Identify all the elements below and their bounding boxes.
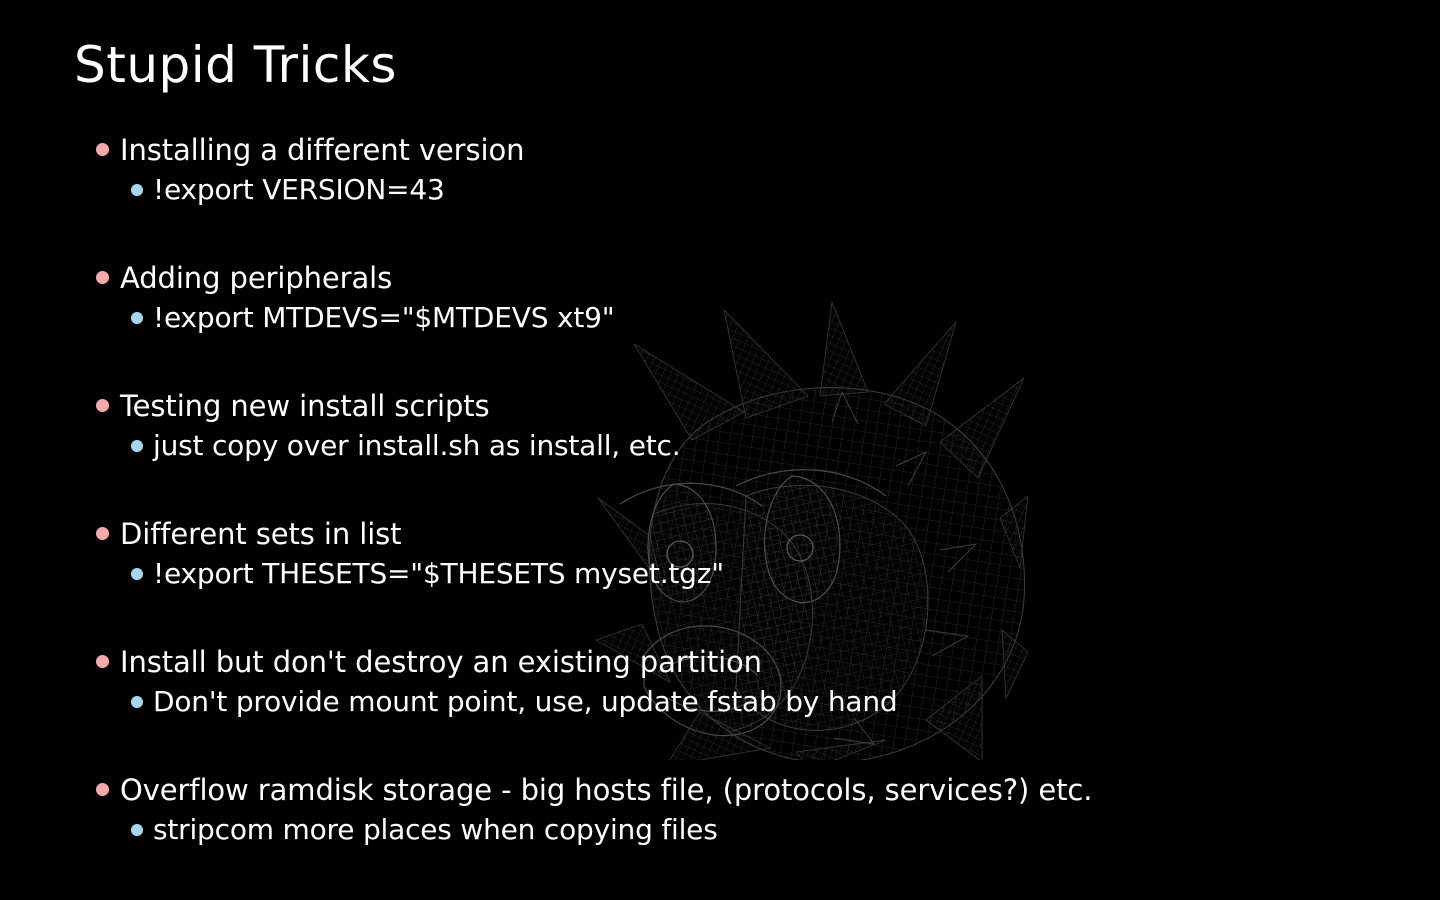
bullet-text: just copy over install.sh as install, et…	[153, 426, 680, 466]
bullet-text: Installing a different version	[120, 130, 524, 170]
bullet-dot-icon	[96, 399, 109, 412]
bullet-item-level1: Different sets in list	[0, 514, 1440, 554]
bullet-item-level2: stripcom more places when copying files	[0, 810, 1440, 850]
bullet-item-level2: Don't provide mount point, use, update f…	[0, 682, 1440, 722]
bullet-dot-icon	[96, 783, 109, 796]
slide-title: Stupid Tricks	[74, 36, 397, 94]
bullet-dot-icon	[96, 655, 109, 668]
bullet-text: Install but don't destroy an existing pa…	[120, 642, 762, 682]
bullet-item-level1: Testing new install scripts	[0, 386, 1440, 426]
bullet-group: Different sets in list !export THESETS="…	[0, 514, 1440, 594]
bullet-item-level1: Adding peripherals	[0, 258, 1440, 298]
bullet-dot-icon	[131, 568, 143, 580]
bullet-text: !export THESETS="$THESETS myset.tgz"	[153, 554, 724, 594]
bullet-dot-icon	[96, 143, 109, 156]
bullet-dot-icon	[131, 312, 143, 324]
bullet-dot-icon	[131, 696, 143, 708]
bullet-list: Installing a different version !export V…	[0, 130, 1440, 850]
bullet-text: Testing new install scripts	[120, 386, 490, 426]
presentation-slide: Stupid Tricks Installing a different ver…	[0, 0, 1440, 900]
bullet-group: Overflow ramdisk storage - big hosts fil…	[0, 770, 1440, 850]
bullet-dot-icon	[96, 271, 109, 284]
bullet-item-level2: !export VERSION=43	[0, 170, 1440, 210]
bullet-group: Adding peripherals !export MTDEVS="$MTDE…	[0, 258, 1440, 338]
bullet-dot-icon	[131, 440, 143, 452]
bullet-item-level2: !export MTDEVS="$MTDEVS xt9"	[0, 298, 1440, 338]
bullet-dot-icon	[131, 184, 143, 196]
bullet-text: !export VERSION=43	[153, 170, 445, 210]
bullet-item-level2: !export THESETS="$THESETS myset.tgz"	[0, 554, 1440, 594]
bullet-text: !export MTDEVS="$MTDEVS xt9"	[153, 298, 614, 338]
bullet-text: Different sets in list	[120, 514, 401, 554]
bullet-group: Testing new install scripts just copy ov…	[0, 386, 1440, 466]
bullet-text: Overflow ramdisk storage - big hosts fil…	[120, 770, 1092, 810]
bullet-text: stripcom more places when copying files	[153, 810, 718, 850]
bullet-text: Adding peripherals	[120, 258, 392, 298]
bullet-item-level1: Overflow ramdisk storage - big hosts fil…	[0, 770, 1440, 810]
bullet-group: Install but don't destroy an existing pa…	[0, 642, 1440, 722]
bullet-group: Installing a different version !export V…	[0, 130, 1440, 210]
bullet-text: Don't provide mount point, use, update f…	[153, 682, 898, 722]
bullet-dot-icon	[131, 824, 143, 836]
bullet-dot-icon	[96, 527, 109, 540]
bullet-item-level1: Installing a different version	[0, 130, 1440, 170]
bullet-item-level2: just copy over install.sh as install, et…	[0, 426, 1440, 466]
bullet-item-level1: Install but don't destroy an existing pa…	[0, 642, 1440, 682]
